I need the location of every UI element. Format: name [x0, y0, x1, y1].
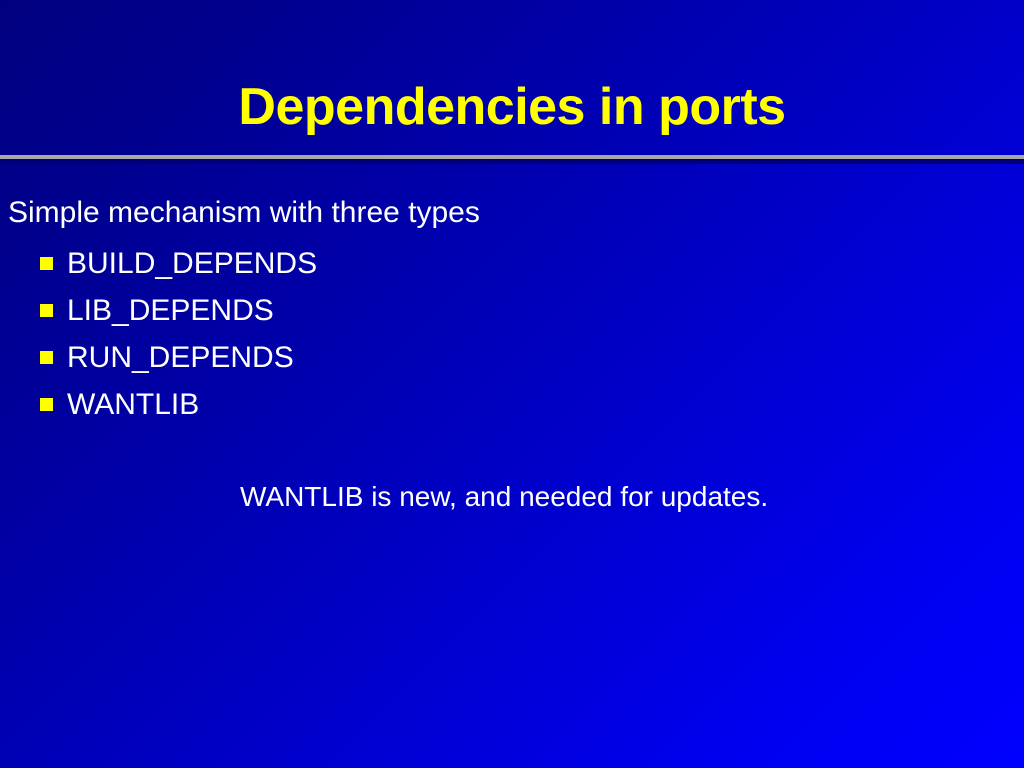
square-bullet-icon [40, 257, 53, 270]
list-item-label: RUN_DEPENDS [67, 334, 294, 381]
square-bullet-icon [40, 351, 53, 364]
title-divider-shadow [0, 159, 1024, 164]
page-title: Dependencies in ports [0, 80, 1024, 135]
note-line: WANTLIB is new, and needed for updates. [240, 483, 768, 511]
presentation-slide: Dependencies in ports Simple mechanism w… [0, 0, 1024, 768]
list-item-label: BUILD_DEPENDS [67, 240, 317, 287]
lead-line: Simple mechanism with three types [0, 198, 1024, 228]
slide-body: Simple mechanism with three types BUILD_… [0, 198, 1024, 428]
square-bullet-icon [40, 398, 53, 411]
square-bullet-icon [40, 304, 53, 317]
title-area: Dependencies in ports [0, 80, 1024, 135]
dependency-type-list: BUILD_DEPENDS LIB_DEPENDS RUN_DEPENDS WA… [0, 240, 1024, 428]
list-item-label: LIB_DEPENDS [67, 287, 274, 334]
list-item-label: WANTLIB [67, 381, 199, 428]
list-item: LIB_DEPENDS [0, 287, 1024, 334]
list-item: BUILD_DEPENDS [0, 240, 1024, 287]
list-item: WANTLIB [0, 381, 1024, 428]
list-item: RUN_DEPENDS [0, 334, 1024, 381]
